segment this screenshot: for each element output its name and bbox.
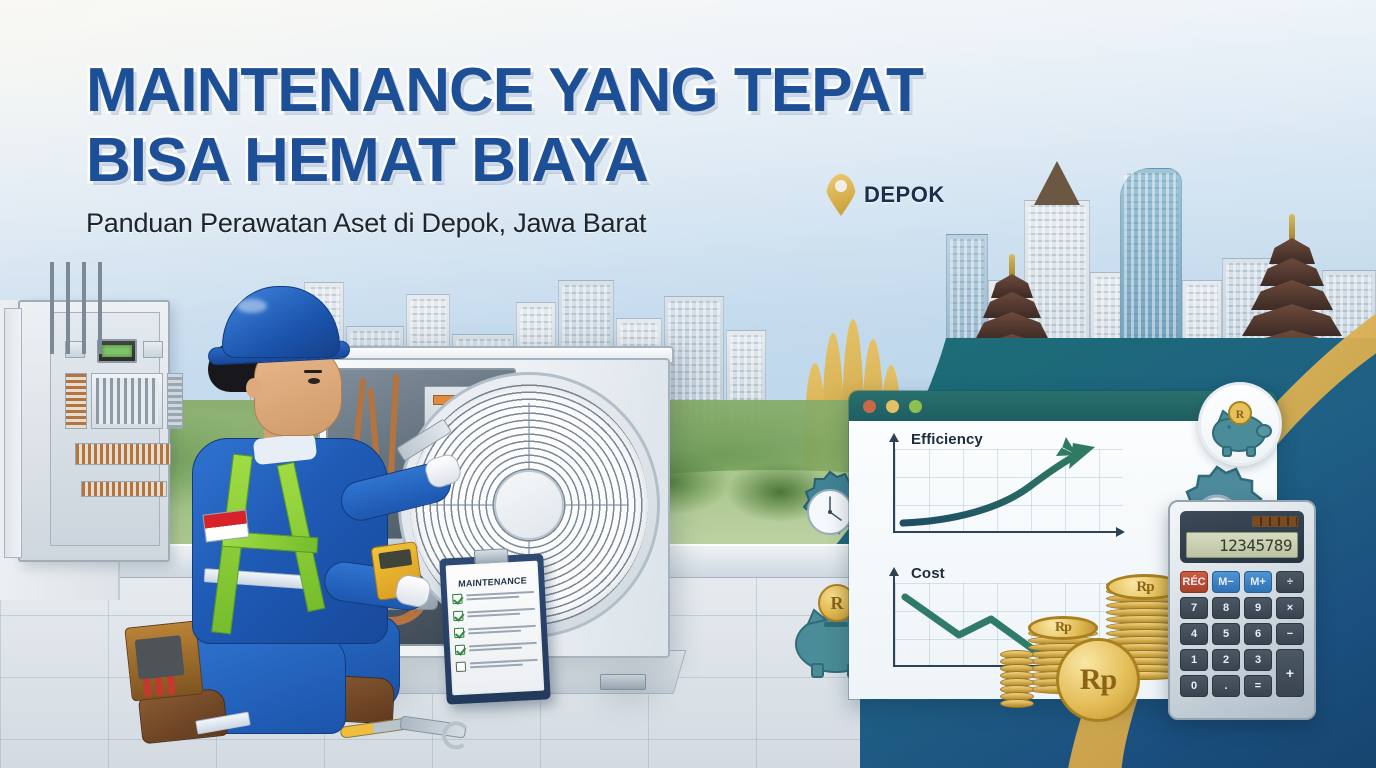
subtitle: Panduan Perawatan Aset di Depok, Jawa Ba… — [86, 208, 1106, 239]
coin-letter: R — [831, 593, 844, 614]
checklist-line — [466, 591, 534, 603]
calculator-key-rec[interactable]: RÉC — [1180, 571, 1208, 593]
checklist-item[interactable] — [454, 624, 536, 638]
location-label: DEPOK — [864, 182, 945, 208]
checklist-title: MAINTENANCE — [452, 575, 534, 589]
location-badge: DEPOK — [826, 174, 945, 216]
window-close-button[interactable] — [863, 400, 876, 413]
coin-front-rp: Rp — [1056, 638, 1140, 722]
map-pin-icon — [826, 174, 856, 216]
technician-tool-belt — [124, 620, 203, 701]
efficiency-trend-line — [873, 435, 1123, 551]
efficiency-chart: Efficiency — [873, 435, 1123, 551]
checklist-line — [470, 659, 538, 671]
solar-panel-icon — [1252, 516, 1298, 527]
checkbox-checked-icon[interactable] — [455, 645, 466, 656]
calculator-display: 12345789 — [1186, 532, 1298, 558]
calculator[interactable]: 12345789 RÉC M− M+ ÷ 7 8 9 × 4 5 6 − 1 2… — [1168, 500, 1316, 720]
coin-currency-label: Rp — [1080, 663, 1116, 697]
checklist-line — [469, 642, 537, 654]
calculator-key-2[interactable]: 2 — [1212, 649, 1240, 671]
coin-top-rp-2: Rp — [1028, 616, 1098, 640]
hvac-technician — [96, 286, 396, 738]
cabinet-door — [4, 308, 22, 558]
piggy-bank-badge-icon: R — [1198, 382, 1282, 466]
checkbox-unchecked-icon[interactable] — [456, 662, 467, 673]
calculator-key-equals[interactable]: = — [1244, 675, 1272, 697]
clipboard-paper: MAINTENANCE — [446, 561, 545, 696]
calculator-key-decimal[interactable]: . — [1212, 675, 1240, 697]
calculator-key-divide[interactable]: ÷ — [1276, 571, 1304, 593]
calculator-key-9[interactable]: 9 — [1244, 597, 1272, 619]
window-minimize-button[interactable] — [886, 400, 899, 413]
calculator-key-multiply[interactable]: × — [1276, 597, 1304, 619]
terminal-block-left — [65, 373, 87, 429]
calculator-keypad[interactable]: RÉC M− M+ ÷ 7 8 9 × 4 5 6 − 1 2 3 + 0 . … — [1180, 571, 1304, 697]
indonesia-flag-patch — [202, 509, 249, 542]
checkbox-checked-icon[interactable] — [453, 611, 464, 622]
calculator-key-0[interactable]: 0 — [1180, 675, 1208, 697]
calculator-key-5[interactable]: 5 — [1212, 623, 1240, 645]
calculator-top-section: 12345789 — [1180, 511, 1304, 563]
technician-ear — [246, 378, 262, 398]
calculator-key-m-minus[interactable]: M− — [1212, 571, 1240, 593]
checklist-line — [467, 608, 535, 620]
checklist-item[interactable] — [453, 607, 535, 621]
technician-eyebrow — [304, 370, 322, 373]
technician-eye — [308, 378, 320, 384]
calculator-key-m-plus[interactable]: M+ — [1244, 571, 1272, 593]
calculator-key-3[interactable]: 3 — [1244, 649, 1272, 671]
calculator-key-7[interactable]: 7 — [1180, 597, 1208, 619]
calculator-key-minus[interactable]: − — [1276, 623, 1304, 645]
calculator-key-1[interactable]: 1 — [1180, 649, 1208, 671]
coin-currency-label: Rp — [1055, 620, 1071, 636]
calculator-key-8[interactable]: 8 — [1212, 597, 1240, 619]
checkbox-checked-icon[interactable] — [454, 628, 465, 639]
checklist-item[interactable] — [452, 590, 534, 604]
checklist-item[interactable] — [455, 641, 537, 655]
checkbox-checked-icon[interactable] — [452, 594, 463, 605]
headline-line-2: BISA HEMAT BIAYA — [86, 126, 1106, 196]
headline-block: MAINTENANCE YANG TEPAT BISA HEMAT BIAYA … — [86, 56, 1106, 239]
calculator-key-4[interactable]: 4 — [1180, 623, 1208, 645]
window-maximize-button[interactable] — [909, 400, 922, 413]
checklist-line — [468, 625, 536, 637]
hard-hat — [222, 286, 340, 358]
maintenance-clipboard[interactable]: MAINTENANCE — [439, 553, 550, 704]
calculator-key-6[interactable]: 6 — [1244, 623, 1272, 645]
coin-stack-left-edge — [1000, 652, 1034, 708]
infographic-canvas: MAINTENANCE — [0, 0, 1376, 768]
checklist-item[interactable] — [456, 658, 538, 672]
coin-currency-label: Rp — [1136, 579, 1153, 596]
headline-line-1: MAINTENANCE YANG TEPAT — [86, 56, 1106, 126]
calculator-key-plus[interactable]: + — [1276, 649, 1304, 697]
svg-text:R: R — [1236, 407, 1245, 421]
